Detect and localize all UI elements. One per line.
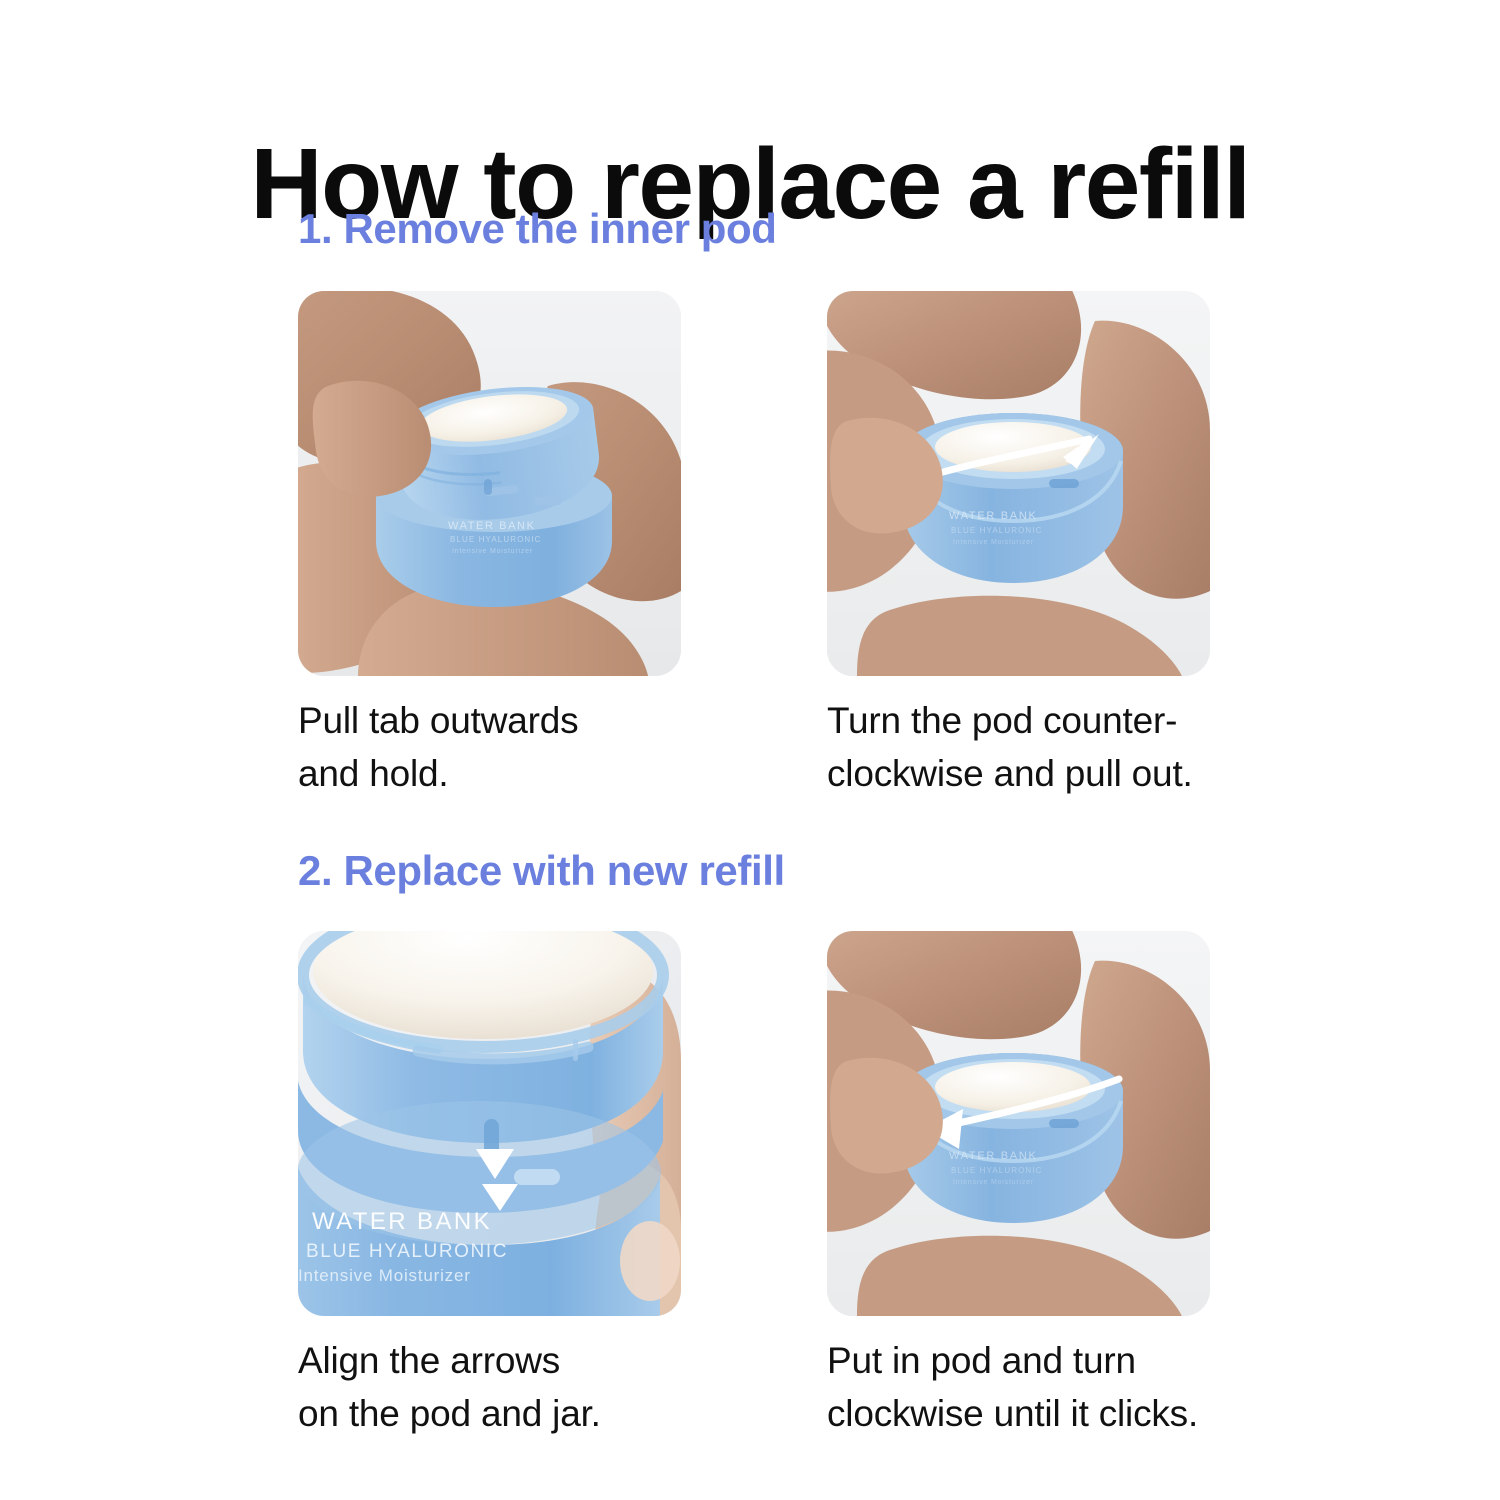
svg-text:Intensive Moisturizer: Intensive Moisturizer [298,1266,471,1285]
caption-turn-counterclockwise: Turn the pod counter- clockwise and pull… [827,694,1297,800]
svg-text:Intensive Moisturizer: Intensive Moisturizer [452,548,533,555]
svg-text:WATER BANK: WATER BANK [448,520,536,532]
step-1-heading: 1. Remove the inner pod [298,203,777,255]
photo-panel-turn-clockwise: WATER BANK BLUE HYALURONIC Intensive Moi… [827,931,1210,1316]
svg-text:BLUE HYALURONIC: BLUE HYALURONIC [306,1241,508,1262]
illustration-turn-clockwise: WATER BANK BLUE HYALURONIC Intensive Moi… [827,931,1210,1316]
svg-text:WATER BANK: WATER BANK [949,510,1038,522]
caption-pull-tab: Pull tab outwards and hold. [298,694,768,800]
svg-text:BLUE HYALURONIC: BLUE HYALURONIC [951,1166,1042,1175]
illustration-pull-tab: WATER BANK BLUE HYALURONIC Intensive Moi… [298,291,681,676]
svg-text:Intensive Moisturizer: Intensive Moisturizer [953,539,1034,546]
svg-text:Intensive Moisturizer: Intensive Moisturizer [953,1179,1034,1186]
svg-text:BLUE HYALURONIC: BLUE HYALURONIC [450,535,541,544]
illustration-align-arrows: WATER BANK BLUE HYALURONIC Intensive Moi… [298,931,681,1316]
svg-text:WATER BANK: WATER BANK [949,1150,1038,1162]
step-2-heading: 2. Replace with new refill [298,845,785,897]
photo-panel-turn-counterclockwise: WATER BANK BLUE HYALURONIC Intensive Moi… [827,291,1210,676]
caption-align-arrows: Align the arrows on the pod and jar. [298,1334,768,1440]
svg-text:BLUE HYALURONIC: BLUE HYALURONIC [951,526,1042,535]
photo-panel-align-arrows: WATER BANK BLUE HYALURONIC Intensive Moi… [298,931,681,1316]
infographic-page: How to replace a refill 1. Remove the in… [0,0,1500,1500]
illustration-turn-counterclockwise: WATER BANK BLUE HYALURONIC Intensive Moi… [827,291,1210,676]
caption-turn-clockwise: Put in pod and turn clockwise until it c… [827,1334,1297,1440]
svg-text:WATER BANK: WATER BANK [312,1208,492,1235]
photo-panel-pull-tab: WATER BANK BLUE HYALURONIC Intensive Moi… [298,291,681,676]
